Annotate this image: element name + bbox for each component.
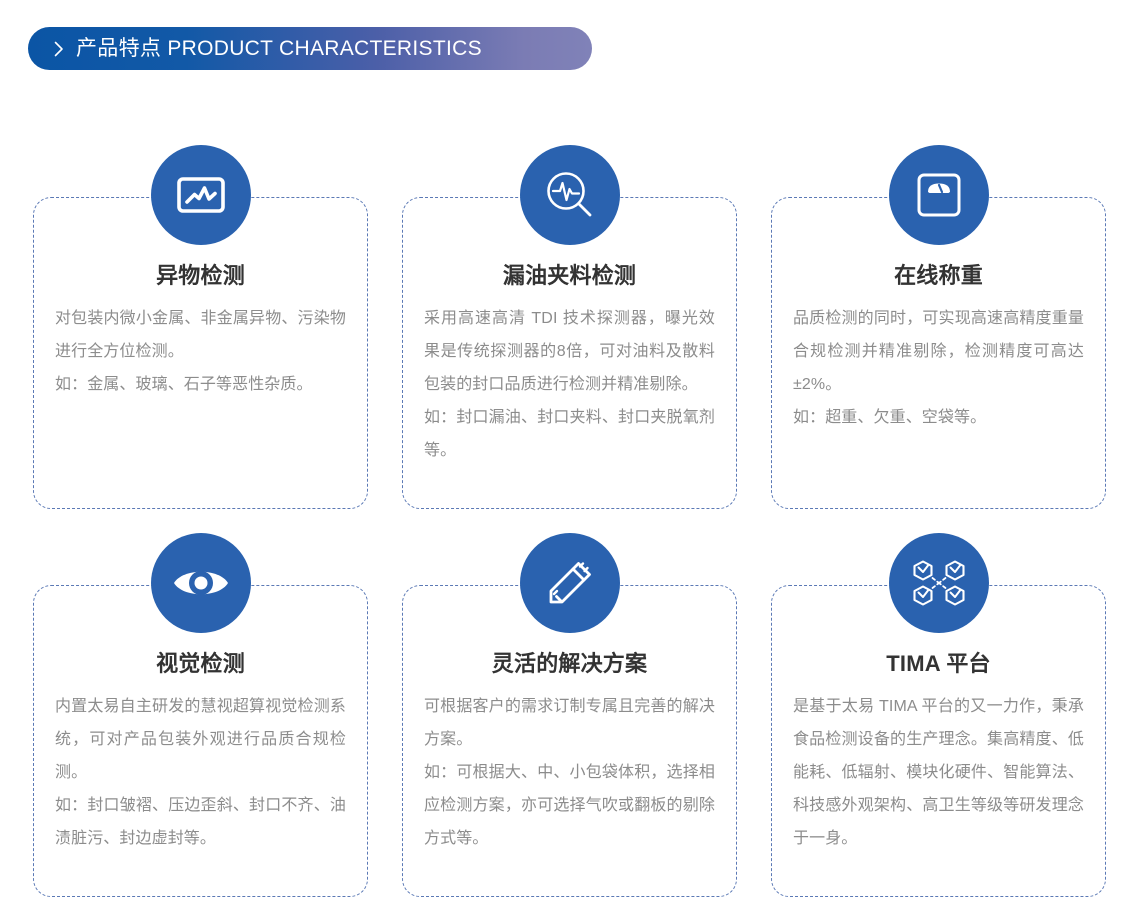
feature-card-online-weighing[interactable]: 在线称重 品质检测的同时，可实现高速高精度重量合规检测并精准剔除，检测精度可高达…	[771, 145, 1106, 525]
card-title: 视觉检测	[55, 651, 346, 677]
card-paragraph: 对包装内微小金属、非金属异物、污染物进行全方位检测。	[55, 302, 346, 368]
card-title: 灵活的解决方案	[424, 651, 715, 677]
card-paragraph: 如：超重、欠重、空袋等。	[793, 401, 1084, 434]
hexagon-network-icon	[889, 533, 989, 633]
feature-card-foreign-object-detection[interactable]: 异物检测 对包装内微小金属、非金属异物、污染物进行全方位检测。 如：金属、玻璃、…	[33, 145, 368, 525]
feature-card-tima-platform[interactable]: TIMA 平台 是基于太易 TIMA 平台的又一力作，秉承食品检测设备的生产理念…	[771, 533, 1106, 918]
card-paragraph: 可根据客户的需求订制专属且完善的解决方案。	[424, 690, 715, 756]
card-paragraph: 是基于太易 TIMA 平台的又一力作，秉承食品检测设备的生产理念。集高精度、低能…	[793, 690, 1084, 855]
feature-cards-grid: 异物检测 对包装内微小金属、非金属异物、污染物进行全方位检测。 如：金属、玻璃、…	[33, 145, 1106, 918]
card-paragraph: 内置太易自主研发的慧视超算视觉检测系统，可对产品包装外观进行品质合规检测。	[55, 690, 346, 789]
section-header-banner: 产品特点 PRODUCT CHARACTERISTICS	[28, 27, 592, 70]
feature-card-oil-leak-detection[interactable]: 漏油夹料检测 采用高速高清 TDI 技术探测器，曝光效果是传统探测器的8倍，可对…	[402, 145, 737, 525]
magnifier-pulse-icon	[520, 145, 620, 245]
feature-card-flexible-solution[interactable]: 灵活的解决方案 可根据客户的需求订制专属且完善的解决方案。 如：可根据大、中、小…	[402, 533, 737, 918]
monitor-waveform-icon	[151, 145, 251, 245]
chevron-right-icon	[54, 41, 64, 57]
card-title: TIMA 平台	[793, 651, 1084, 677]
card-title: 异物检测	[55, 263, 346, 289]
card-title: 漏油夹料检测	[424, 263, 715, 289]
card-paragraph: 如：封口皱褶、压边歪斜、封口不齐、油渍脏污、封边虚封等。	[55, 789, 346, 855]
weight-scale-icon	[889, 145, 989, 245]
card-paragraph: 如：封口漏油、封口夹料、封口夹脱氧剂等。	[424, 401, 715, 467]
pencil-edit-icon	[520, 533, 620, 633]
feature-card-visual-inspection[interactable]: 视觉检测 内置太易自主研发的慧视超算视觉检测系统，可对产品包装外观进行品质合规检…	[33, 533, 368, 918]
product-characteristics-page: 产品特点 PRODUCT CHARACTERISTICS 异物检测 对包装内微小…	[0, 0, 1139, 918]
card-title: 在线称重	[793, 263, 1084, 289]
eye-icon	[151, 533, 251, 633]
card-paragraph: 如：金属、玻璃、石子等恶性杂质。	[55, 368, 346, 401]
section-header-title: 产品特点 PRODUCT CHARACTERISTICS	[76, 38, 482, 59]
card-paragraph: 品质检测的同时，可实现高速高精度重量合规检测并精准剔除，检测精度可高达 ±2%。	[793, 302, 1084, 401]
card-paragraph: 采用高速高清 TDI 技术探测器，曝光效果是传统探测器的8倍，可对油料及散料包装…	[424, 302, 715, 401]
card-paragraph: 如：可根据大、中、小包袋体积，选择相应检测方案，亦可选择气吹或翻板的剔除方式等。	[424, 756, 715, 855]
